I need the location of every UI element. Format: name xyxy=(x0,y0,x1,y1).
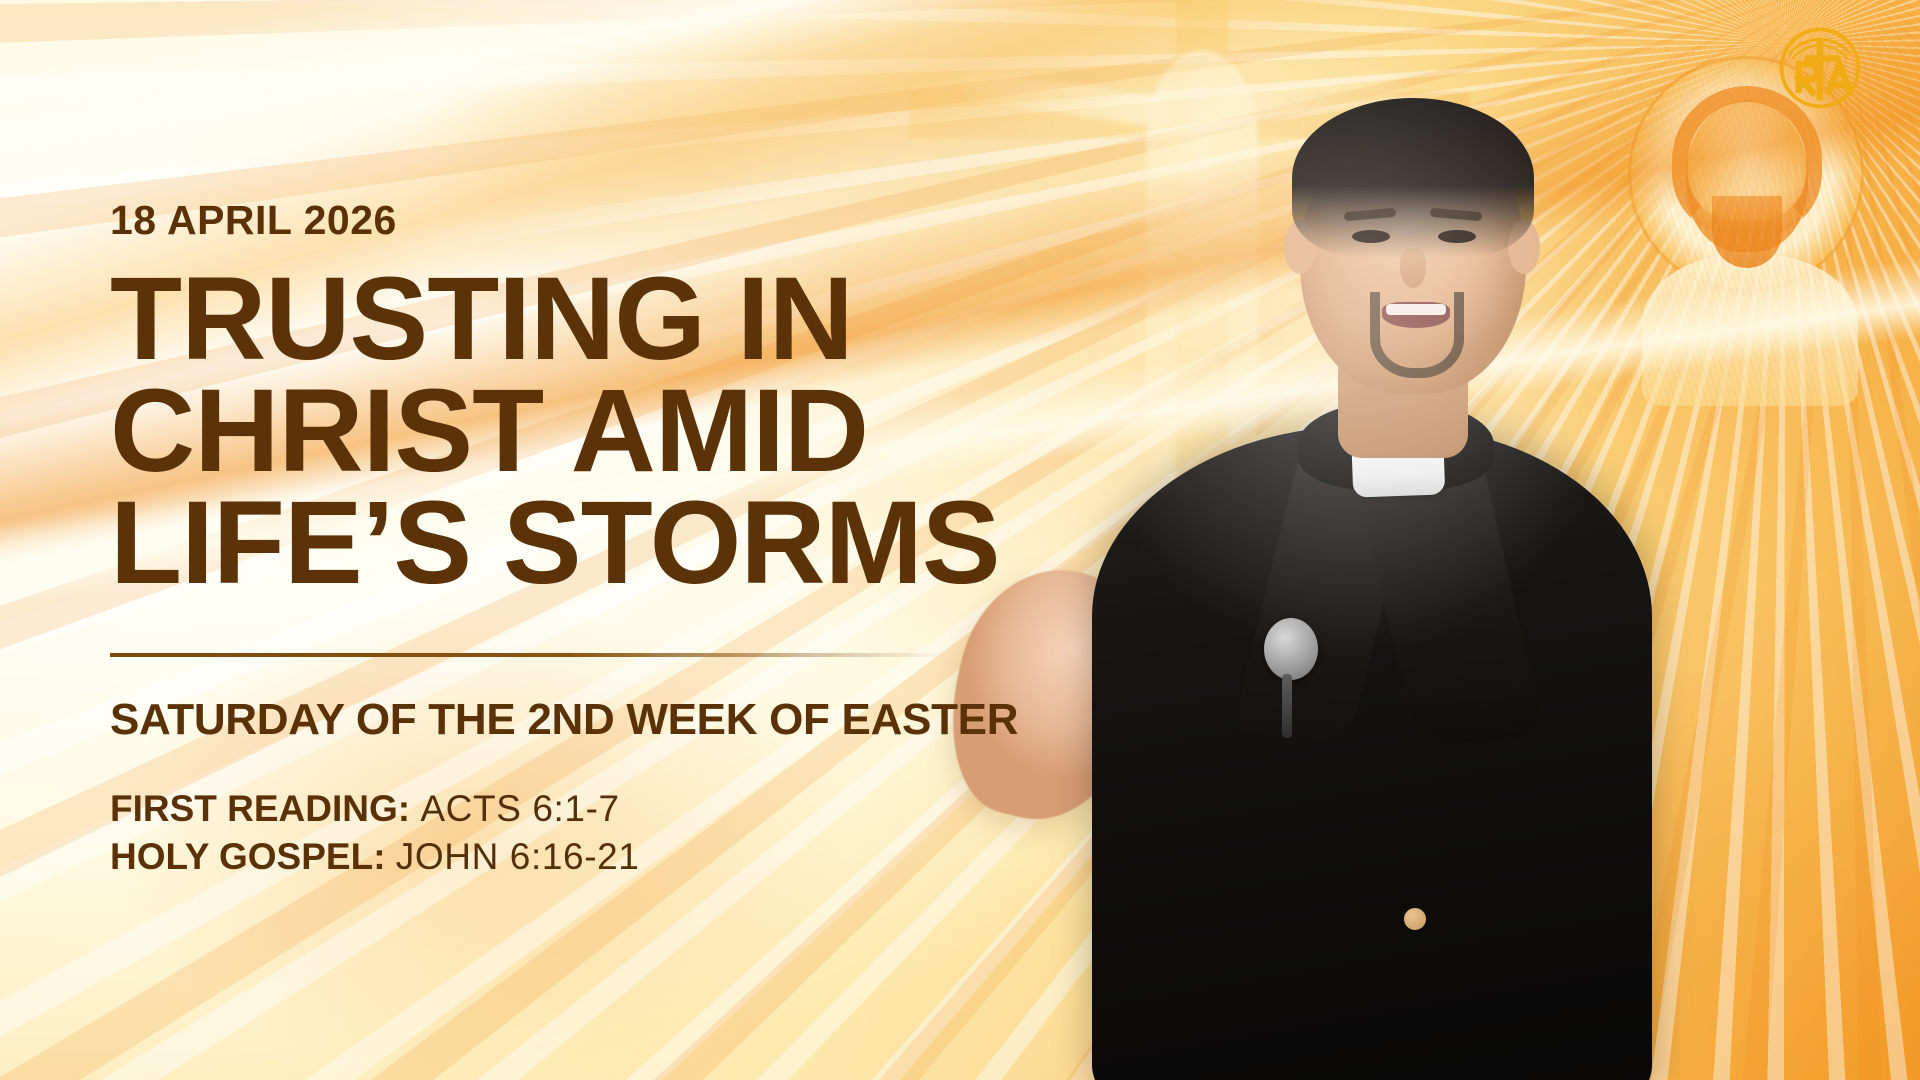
list-item: HOLY GOSPEL: JOHN 6:16-21 xyxy=(110,833,1170,880)
speaker-eye-left xyxy=(1352,230,1390,243)
page-title: TRUSTING IN CHRIST AMID LIFE’S STORMS xyxy=(110,263,1170,599)
headline-line-1: TRUSTING IN xyxy=(110,263,1170,375)
headline-line-3: LIFE’S STORMS xyxy=(110,487,1170,599)
lapel-microphone-icon xyxy=(1264,618,1318,680)
divider xyxy=(110,653,948,657)
speaker-eye-right xyxy=(1438,230,1476,243)
headline-line-2: CHRIST AMID xyxy=(110,375,1170,487)
holy-gospel-label: HOLY GOSPEL: xyxy=(110,836,386,877)
holy-gospel-value: JOHN 6:16-21 xyxy=(396,836,640,877)
list-item: FIRST READING: ACTS 6:1-7 xyxy=(110,785,1170,832)
rta-logo xyxy=(1772,18,1868,114)
speaker-hair xyxy=(1292,98,1534,258)
liturgical-day-subtitle: SATURDAY OF THE 2ND WEEK OF EASTER xyxy=(110,697,1170,743)
first-reading-label: FIRST READING: xyxy=(110,788,410,829)
speaker-teeth xyxy=(1386,304,1446,315)
speaker-nose xyxy=(1400,248,1426,288)
gospel-reflection-banner: 18 APRIL 2026 TRUSTING IN CHRIST AMID LI… xyxy=(0,0,1920,1080)
speaker-mouth xyxy=(1382,302,1450,328)
first-reading-value: ACTS 6:1-7 xyxy=(420,788,619,829)
banner-text-content: 18 APRIL 2026 TRUSTING IN CHRIST AMID LI… xyxy=(110,0,1170,1080)
event-date: 18 APRIL 2026 xyxy=(110,200,1170,241)
microphone-stem xyxy=(1282,674,1292,738)
suit-button xyxy=(1404,908,1426,930)
readings-list: FIRST READING: ACTS 6:1-7 HOLY GOSPEL: J… xyxy=(110,785,1170,880)
